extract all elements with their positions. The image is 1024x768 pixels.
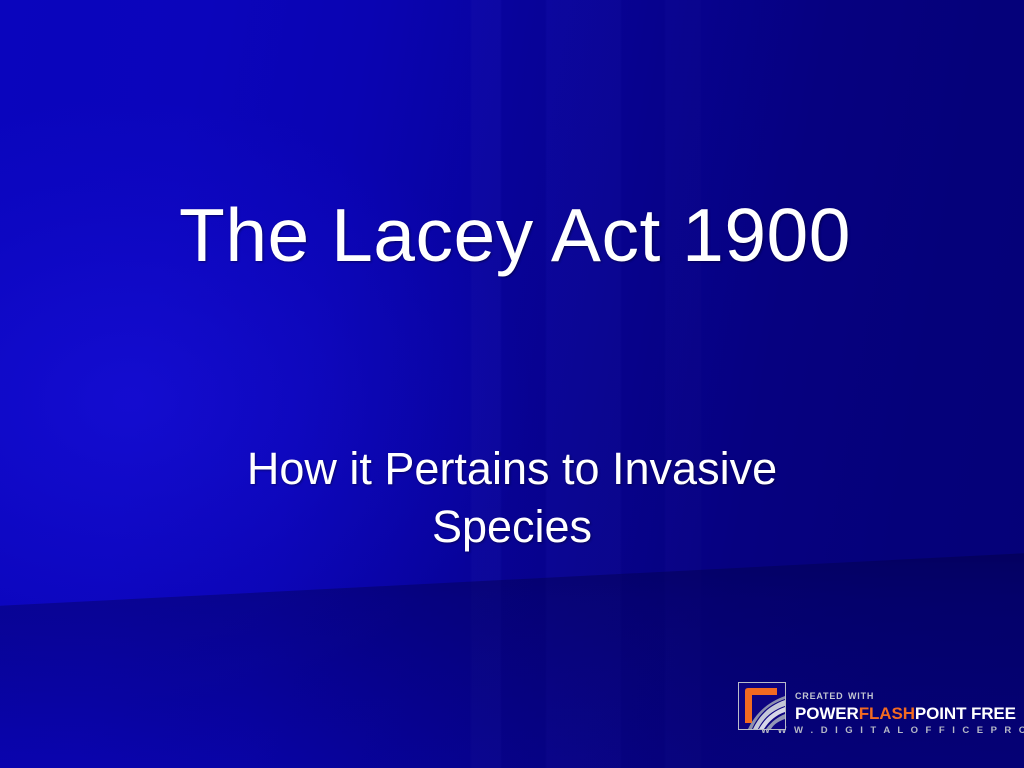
- watermark-url: W W W . D I G I T A L O F F I C E P R O …: [761, 726, 1024, 736]
- background-light-sheen: [0, 0, 1024, 768]
- watermark-brand: POWERFLASHPOINT FREE: [795, 705, 1024, 722]
- watermark-brand-power: POWER: [795, 704, 859, 723]
- watermark-brand-flash: FLASH: [859, 704, 915, 723]
- watermark-created-with: Created with: [795, 688, 1024, 702]
- slide-subtitle: How it Pertains to Invasive Species: [212, 440, 812, 555]
- slide-subtitle-block: How it Pertains to Invasive Species: [212, 440, 812, 555]
- slide-title: The Lacey Act 1900: [100, 196, 930, 275]
- watermark-brand-point-free: POINT FREE: [915, 704, 1016, 723]
- slide-title-block: The Lacey Act 1900: [100, 196, 930, 275]
- presentation-slide: The Lacey Act 1900 How it Pertains to In…: [0, 0, 1024, 768]
- powerflashpoint-watermark: Created with POWERFLASHPOINT FREE W W W …: [738, 680, 1018, 752]
- digitalofficepro-logo-icon: [738, 682, 786, 730]
- watermark-text-block: Created with POWERFLASHPOINT FREE W W W …: [795, 680, 1024, 735]
- background-vertical-bands: [0, 0, 1024, 768]
